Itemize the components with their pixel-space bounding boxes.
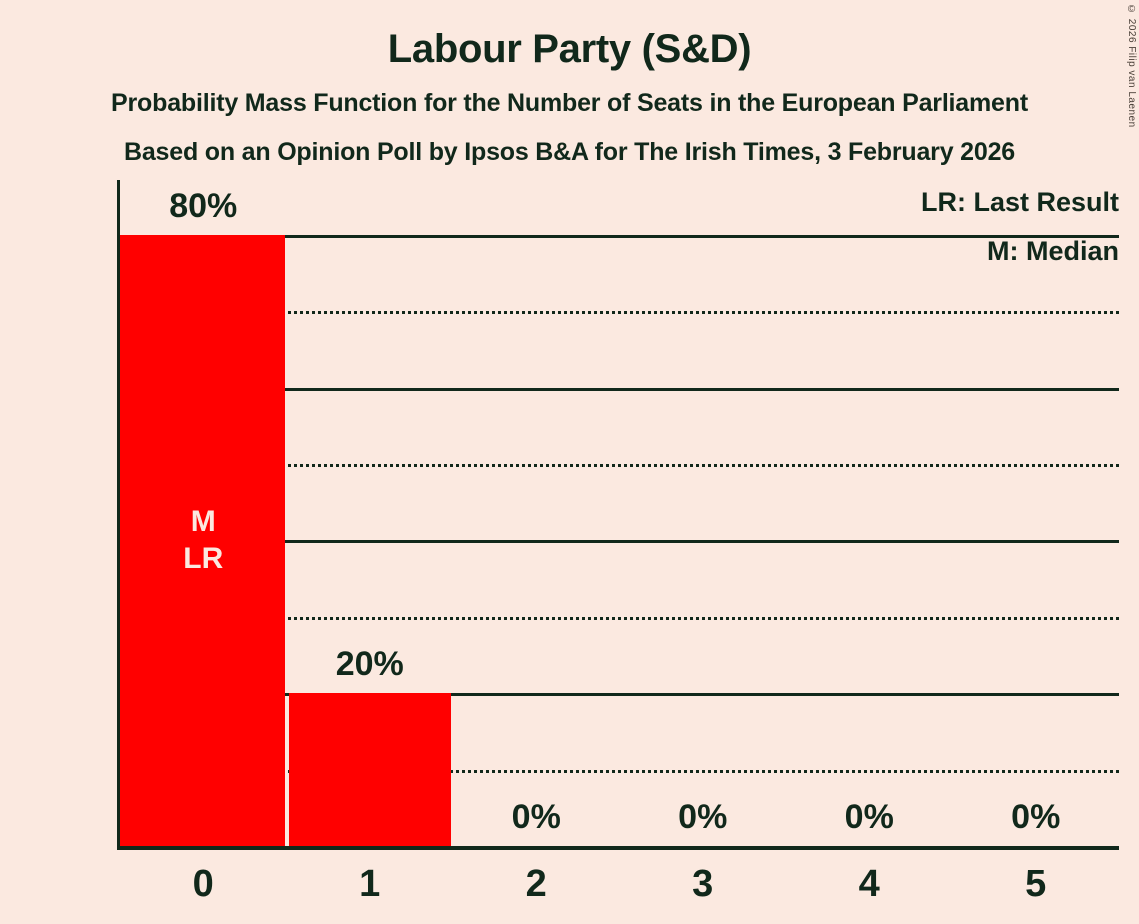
x-axis-tick-label: 4 bbox=[859, 863, 880, 906]
x-axis-tick-label: 0 bbox=[193, 863, 214, 906]
bar-value-label: 80% bbox=[169, 187, 237, 226]
bar-value-label: 0% bbox=[845, 798, 894, 837]
last-result-marker: LR bbox=[183, 540, 223, 577]
x-axis-tick-label: 5 bbox=[1025, 863, 1046, 906]
x-axis-tick-label: 2 bbox=[526, 863, 547, 906]
chart-canvas: Labour Party (S&D) Probability Mass Func… bbox=[0, 0, 1139, 924]
x-axis-tick-label: 1 bbox=[359, 863, 380, 906]
chart-source-line: Based on an Opinion Poll by Ipsos B&A fo… bbox=[0, 136, 1139, 168]
bar-value-label: 0% bbox=[512, 798, 561, 837]
bar-marker-group: MLR bbox=[183, 503, 223, 577]
copyright-notice: © 2026 Filip van Laenen bbox=[1126, 4, 1137, 128]
chart-subtitle: Probability Mass Function for the Number… bbox=[0, 87, 1139, 119]
bar-value-label: 0% bbox=[1011, 798, 1060, 837]
x-axis-tick-label: 3 bbox=[692, 863, 713, 906]
median-marker: M bbox=[183, 503, 223, 540]
bar-value-label: 0% bbox=[678, 798, 727, 837]
page-title: Labour Party (S&D) bbox=[0, 24, 1139, 74]
x-axis-line bbox=[117, 846, 1119, 850]
plot-area: 20%40%60%80% 80%20%0%0%0%0% MLR 012345 bbox=[120, 180, 1119, 846]
bar-value-label: 20% bbox=[336, 645, 404, 684]
bar bbox=[289, 693, 452, 846]
